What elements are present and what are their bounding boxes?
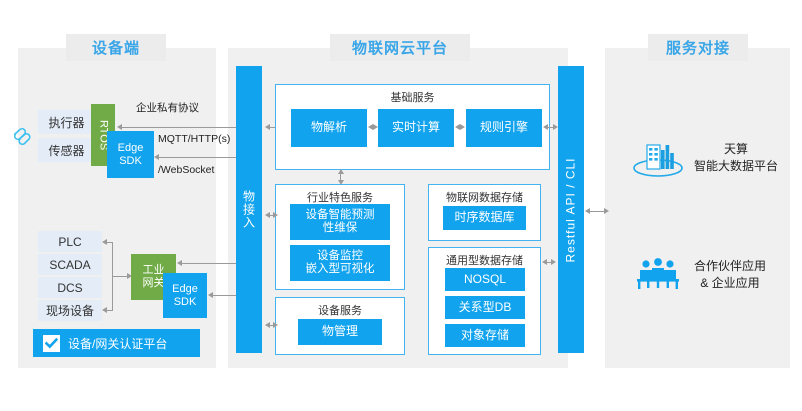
private-protocol-arrow-left xyxy=(117,124,122,130)
ingest-industry-arrow-left xyxy=(265,212,270,218)
gateway-bracket-top xyxy=(106,242,113,243)
general-storage-item-0-label: NOSQL xyxy=(464,273,506,287)
link-chain-icon xyxy=(8,124,34,150)
mqtt-arrow-left xyxy=(154,154,159,160)
ingest-bar-label: 物接入 xyxy=(241,190,258,229)
ingest-basic-arrow-left xyxy=(265,124,270,130)
device-node-plc[interactable]: PLC xyxy=(38,231,102,252)
service-entry-partners-line1: 合作伙伴应用 xyxy=(694,258,766,275)
api-service-arrow-left xyxy=(585,208,590,214)
basic-service-item-2[interactable]: 规则引擎 xyxy=(466,109,542,147)
partners-people-icon xyxy=(630,252,686,298)
industrial-gateway-line2: 网关 xyxy=(143,277,165,290)
iot-storage-title: 物联网数据存储 xyxy=(429,189,540,205)
service-panel xyxy=(605,48,790,368)
general-storage-item-1-label: 关系型DB xyxy=(459,301,512,315)
mqtt-line xyxy=(158,157,240,158)
general-storage-item-1[interactable]: 关系型DB xyxy=(445,296,525,319)
ingest-industry-arrow-right xyxy=(273,212,278,218)
api-service-arrow-right xyxy=(604,208,609,214)
device-service-item-0[interactable]: 物管理 xyxy=(298,319,382,345)
service-panel-title-text: 服务对接 xyxy=(666,37,730,58)
service-entry-partners-text: 合作伙伴应用 & 企业应用 xyxy=(694,258,766,293)
basic-link-1-2-arrow-right xyxy=(460,124,465,130)
device-panel-title: 设备端 xyxy=(66,34,166,61)
device-node-scada-label: SCADA xyxy=(49,258,90,272)
edge-sdk-device-line2: SDK xyxy=(119,155,142,168)
general-storage-item-0[interactable]: NOSQL xyxy=(445,268,525,291)
iot-storage-item-0-label: 时序数据库 xyxy=(454,211,514,225)
device-node-actuator-label: 执行器 xyxy=(48,114,84,131)
general-storage-item-2-label: 对象存储 xyxy=(461,329,509,343)
device-auth-platform-label: 设备/网关认证平台 xyxy=(68,335,167,352)
gateway-bracket-bottom xyxy=(106,310,113,311)
diagram-canvas: 设备端 物联网云平台 服务对接 执行器 传感器 RTOS Edge SDK 企业… xyxy=(0,0,802,411)
service-entry-tiansuan-text: 天算 智能大数据平台 xyxy=(694,141,778,176)
gateway-ingest-line-top xyxy=(180,263,240,264)
service-entry-partners[interactable]: 合作伙伴应用 & 企业应用 xyxy=(630,250,790,300)
industry-service-item-0-line2: 性维保 xyxy=(323,222,358,235)
industry-service-item-0[interactable]: 设备智能预测 性维保 xyxy=(290,204,390,240)
building-analytics-icon xyxy=(630,135,686,181)
general-storage-item-2[interactable]: 对象存储 xyxy=(445,324,525,347)
device-node-sensor[interactable]: 传感器 xyxy=(38,138,95,162)
device-node-sensor-label: 传感器 xyxy=(48,142,84,159)
edge-sdk-gateway-box[interactable]: Edge SDK xyxy=(163,273,207,318)
gateway-bracket-top-arrow xyxy=(102,239,107,245)
device-node-scada[interactable]: SCADA xyxy=(38,254,102,275)
service-entry-tiansuan[interactable]: 天算 智能大数据平台 xyxy=(630,133,790,183)
private-protocol-label: 企业私有协议 xyxy=(136,100,199,115)
platform-panel-title: 物联网云平台 xyxy=(330,34,470,61)
device-node-actuator[interactable]: 执行器 xyxy=(38,110,95,134)
service-panel-title: 服务对接 xyxy=(648,34,748,61)
gateway-bracket-bottom-arrow xyxy=(102,307,107,313)
device-node-dcs-label: DCS xyxy=(57,281,82,295)
basic-api-arrow-left xyxy=(543,124,548,130)
iot-storage-item-0[interactable]: 时序数据库 xyxy=(443,206,526,230)
basic-services-title: 基础服务 xyxy=(276,89,549,105)
basic-service-item-2-label: 规则引擎 xyxy=(480,121,528,135)
service-entry-tiansuan-line2: 智能大数据平台 xyxy=(694,158,778,175)
ingest-device-service-arrow-right xyxy=(273,322,278,328)
gateway-bracket-mid xyxy=(112,276,128,277)
ingest-bar[interactable]: 物接入 xyxy=(236,66,262,353)
edge-sdk-gateway-line2: SDK xyxy=(174,296,197,309)
storage-api-arrow-left xyxy=(542,259,547,265)
industry-service-item-0-line1: 设备智能预测 xyxy=(306,209,375,222)
edge-sdk-device-line1: Edge xyxy=(118,142,144,155)
basic-service-item-0-label: 物解析 xyxy=(311,121,347,135)
restful-api-bar[interactable]: Restful API / CLI xyxy=(558,66,584,353)
storage-api-arrow-right xyxy=(551,259,556,265)
device-node-dcs[interactable]: DCS xyxy=(38,277,102,298)
device-node-field-device-label: 现场设备 xyxy=(46,302,94,319)
device-auth-platform-bar[interactable]: 设备/网关认证平台 xyxy=(33,329,200,357)
gateway-ingest-arrow-bottom-left xyxy=(208,292,213,298)
device-services-title: 设备服务 xyxy=(276,302,404,318)
service-entry-tiansuan-line1: 天算 xyxy=(694,141,778,158)
mqtt-label: MQTT/HTTP(s) xyxy=(158,133,230,145)
general-storage-title: 通用型数据存储 xyxy=(429,252,540,268)
platform-panel-title-text: 物联网云平台 xyxy=(352,37,448,58)
edge-sdk-device-box[interactable]: Edge SDK xyxy=(107,131,154,178)
basic-service-item-1[interactable]: 实时计算 xyxy=(378,109,454,147)
private-protocol-line xyxy=(120,127,240,128)
industry-service-item-1[interactable]: 设备监控 嵌入型可视化 xyxy=(290,245,390,281)
websocket-label: /WebSocket xyxy=(158,164,214,176)
device-service-item-0-label: 物管理 xyxy=(322,325,358,339)
device-panel-title-text: 设备端 xyxy=(92,37,140,58)
device-node-plc-label: PLC xyxy=(58,235,81,249)
basic-api-arrow-right xyxy=(553,124,558,130)
industry-services-title: 行业特色服务 xyxy=(276,189,404,205)
basic-service-item-0[interactable]: 物解析 xyxy=(291,109,367,147)
ingest-device-service-arrow-left xyxy=(265,322,270,328)
device-node-field-device[interactable]: 现场设备 xyxy=(38,300,102,321)
basic-link-0-1-arrow-right xyxy=(373,124,378,130)
industry-service-item-1-line2: 嵌入型可视化 xyxy=(306,263,375,276)
edge-sdk-gateway-line1: Edge xyxy=(172,283,198,296)
basic-industry-arrow-up xyxy=(338,169,344,174)
gateway-ingest-arrow-top-left xyxy=(177,260,182,266)
check-icon xyxy=(43,335,60,352)
industry-service-item-1-line1: 设备监控 xyxy=(317,250,363,263)
restful-api-bar-label: Restful API / CLI xyxy=(564,157,578,262)
industrial-gateway-line1: 工业 xyxy=(143,264,165,277)
basic-service-item-1-label: 实时计算 xyxy=(392,121,440,135)
service-entry-partners-line2: & 企业应用 xyxy=(694,275,766,292)
